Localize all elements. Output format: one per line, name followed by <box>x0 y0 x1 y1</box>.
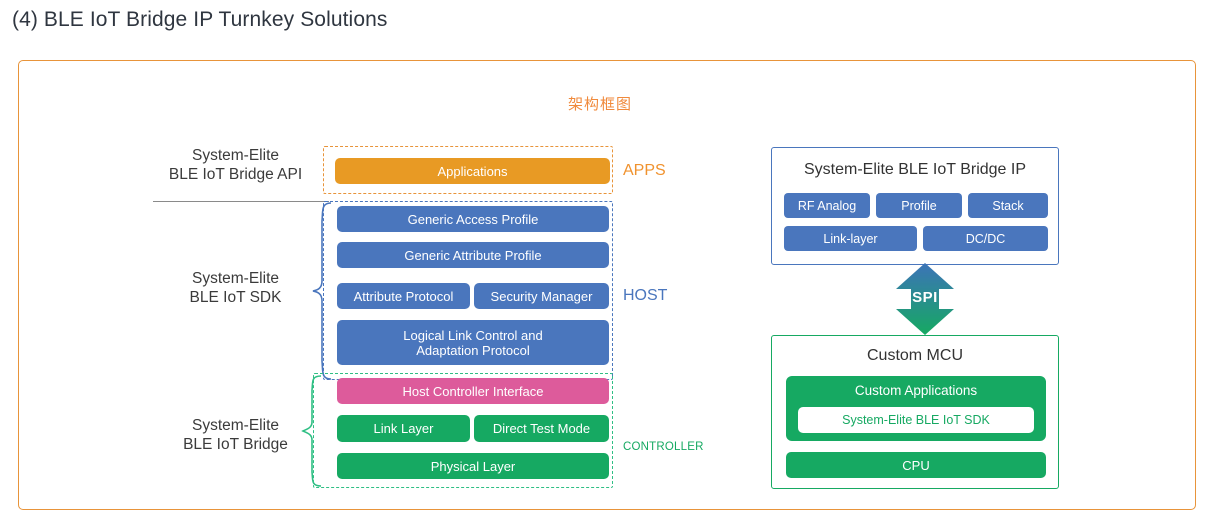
chip-system-elite-ble-iot-sdk[interactable]: System-Elite BLE IoT SDK <box>798 407 1034 433</box>
panel-custom-mcu: Custom MCU Custom Applications System-El… <box>771 335 1059 489</box>
label-bridge-line1: System-Elite <box>153 416 318 435</box>
diagram-caption: 架构框图 <box>568 93 632 114</box>
api-divider-line <box>153 201 329 202</box>
tag-host: HOST <box>623 287 667 305</box>
label-api-line2: BLE IoT Bridge API <box>153 165 318 184</box>
panel-ble-iot-bridge-ip: System-Elite BLE IoT Bridge IP RF Analog… <box>771 147 1059 265</box>
mcu-panel-title: Custom MCU <box>772 347 1058 365</box>
label-sdk-line2: BLE IoT SDK <box>153 288 318 307</box>
chip-stack[interactable]: Stack <box>968 193 1048 218</box>
label-system-elite-api: System-Elite BLE IoT Bridge API <box>153 146 318 184</box>
label-system-elite-bridge: System-Elite BLE IoT Bridge <box>153 416 318 454</box>
box-link-layer[interactable]: Link Layer <box>337 415 470 442</box>
page-title: (4) BLE IoT Bridge IP Turnkey Solutions <box>12 8 387 32</box>
double-arrow-vertical-icon <box>894 263 956 335</box>
chip-cpu[interactable]: CPU <box>786 452 1046 478</box>
label-bridge-line2: BLE IoT Bridge <box>153 435 318 454</box>
chip-rf-analog[interactable]: RF Analog <box>784 193 870 218</box>
chip-dcdc[interactable]: DC/DC <box>923 226 1048 251</box>
box-generic-attribute-profile[interactable]: Generic Attribute Profile <box>337 242 609 268</box>
label-api-line1: System-Elite <box>153 146 318 165</box>
tag-apps: APPS <box>623 162 666 180</box>
chip-link-layer[interactable]: Link-layer <box>784 226 917 251</box>
box-security-manager[interactable]: Security Manager <box>474 283 609 309</box>
ip-panel-title: System-Elite BLE IoT Bridge IP <box>772 161 1058 179</box>
box-l2cap-line1: Logical Link Control and <box>403 328 542 343</box>
custom-applications-label: Custom Applications <box>855 383 977 398</box>
label-sdk-line1: System-Elite <box>153 269 318 288</box>
box-direct-test-mode[interactable]: Direct Test Mode <box>474 415 609 442</box>
tag-controller: CONTROLLER <box>623 441 704 453</box>
box-physical-layer[interactable]: Physical Layer <box>337 453 609 479</box>
chip-custom-applications[interactable]: Custom Applications System-Elite BLE IoT… <box>786 376 1046 441</box>
diagram-card: 架构框图 System-Elite BLE IoT Bridge API Sys… <box>18 60 1196 510</box>
box-applications[interactable]: Applications <box>335 158 610 184</box>
box-host-controller-interface[interactable]: Host Controller Interface <box>337 378 609 404</box>
chip-profile[interactable]: Profile <box>876 193 962 218</box>
box-l2cap-line2: Adaptation Protocol <box>416 343 529 358</box>
box-l2cap[interactable]: Logical Link Control and Adaptation Prot… <box>337 320 609 365</box>
label-system-elite-sdk: System-Elite BLE IoT SDK <box>153 269 318 307</box>
box-attribute-protocol[interactable]: Attribute Protocol <box>337 283 470 309</box>
box-generic-access-profile[interactable]: Generic Access Profile <box>337 206 609 232</box>
